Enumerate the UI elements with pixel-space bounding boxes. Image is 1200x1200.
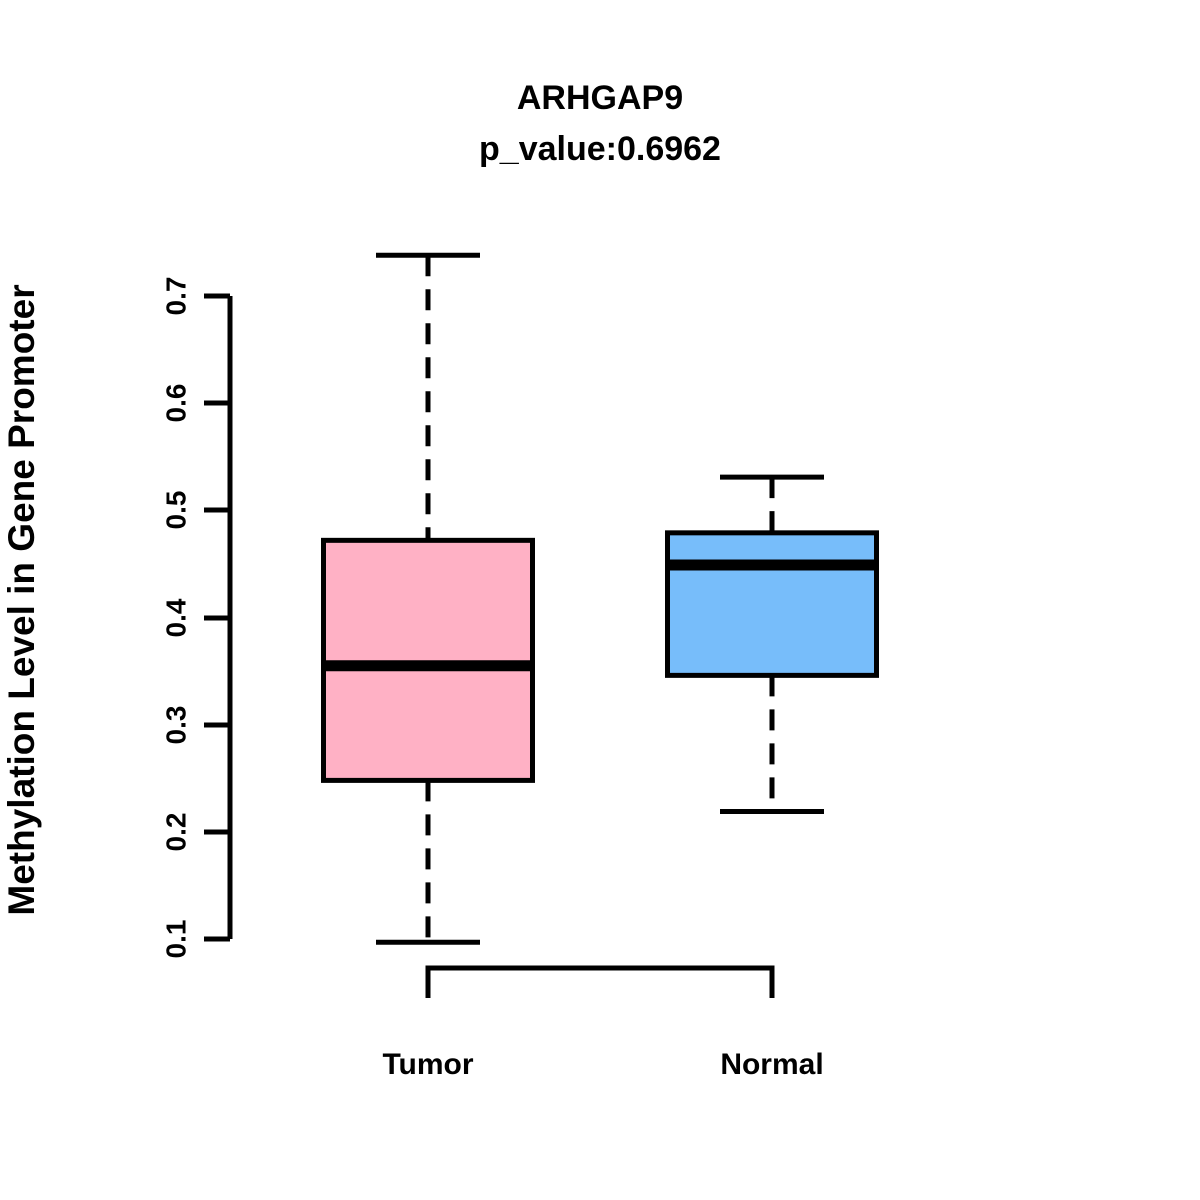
y-tick-label-0.7: 0.7 [161, 277, 192, 316]
y-tick-label-0.2: 0.2 [161, 813, 192, 852]
y-tick-label-0.3: 0.3 [161, 706, 192, 745]
box-tumor[interactable] [324, 255, 533, 942]
chart-subtitle: p_value:0.6962 [479, 130, 721, 168]
plot-canvas: ARHGAP9 p_value:0.6962 Methylation Level… [0, 0, 1200, 1200]
chart-title: ARHGAP9 [517, 79, 683, 117]
x-tick-label-normal: Normal [720, 1048, 823, 1081]
y-tick-label-0.5: 0.5 [161, 491, 192, 530]
x-axis: Tumor Normal [382, 968, 823, 1081]
boxplot-figure: ARHGAP9 p_value:0.6962 Methylation Level… [0, 0, 1200, 1200]
box-normal[interactable] [668, 477, 877, 811]
normal-box-rect[interactable] [668, 533, 877, 676]
y-tick-label-0.6: 0.6 [161, 384, 192, 423]
x-axis-bracket [428, 968, 772, 998]
x-tick-label-tumor: Tumor [382, 1048, 473, 1081]
y-tick-label-0.4: 0.4 [161, 598, 192, 637]
y-axis: 0.7 0.6 0.5 0.4 0.3 0.2 0.1 [161, 277, 231, 959]
y-axis-label: Methylation Level in Gene Promoter [1, 284, 42, 915]
y-tick-label-0.1: 0.1 [161, 920, 192, 959]
